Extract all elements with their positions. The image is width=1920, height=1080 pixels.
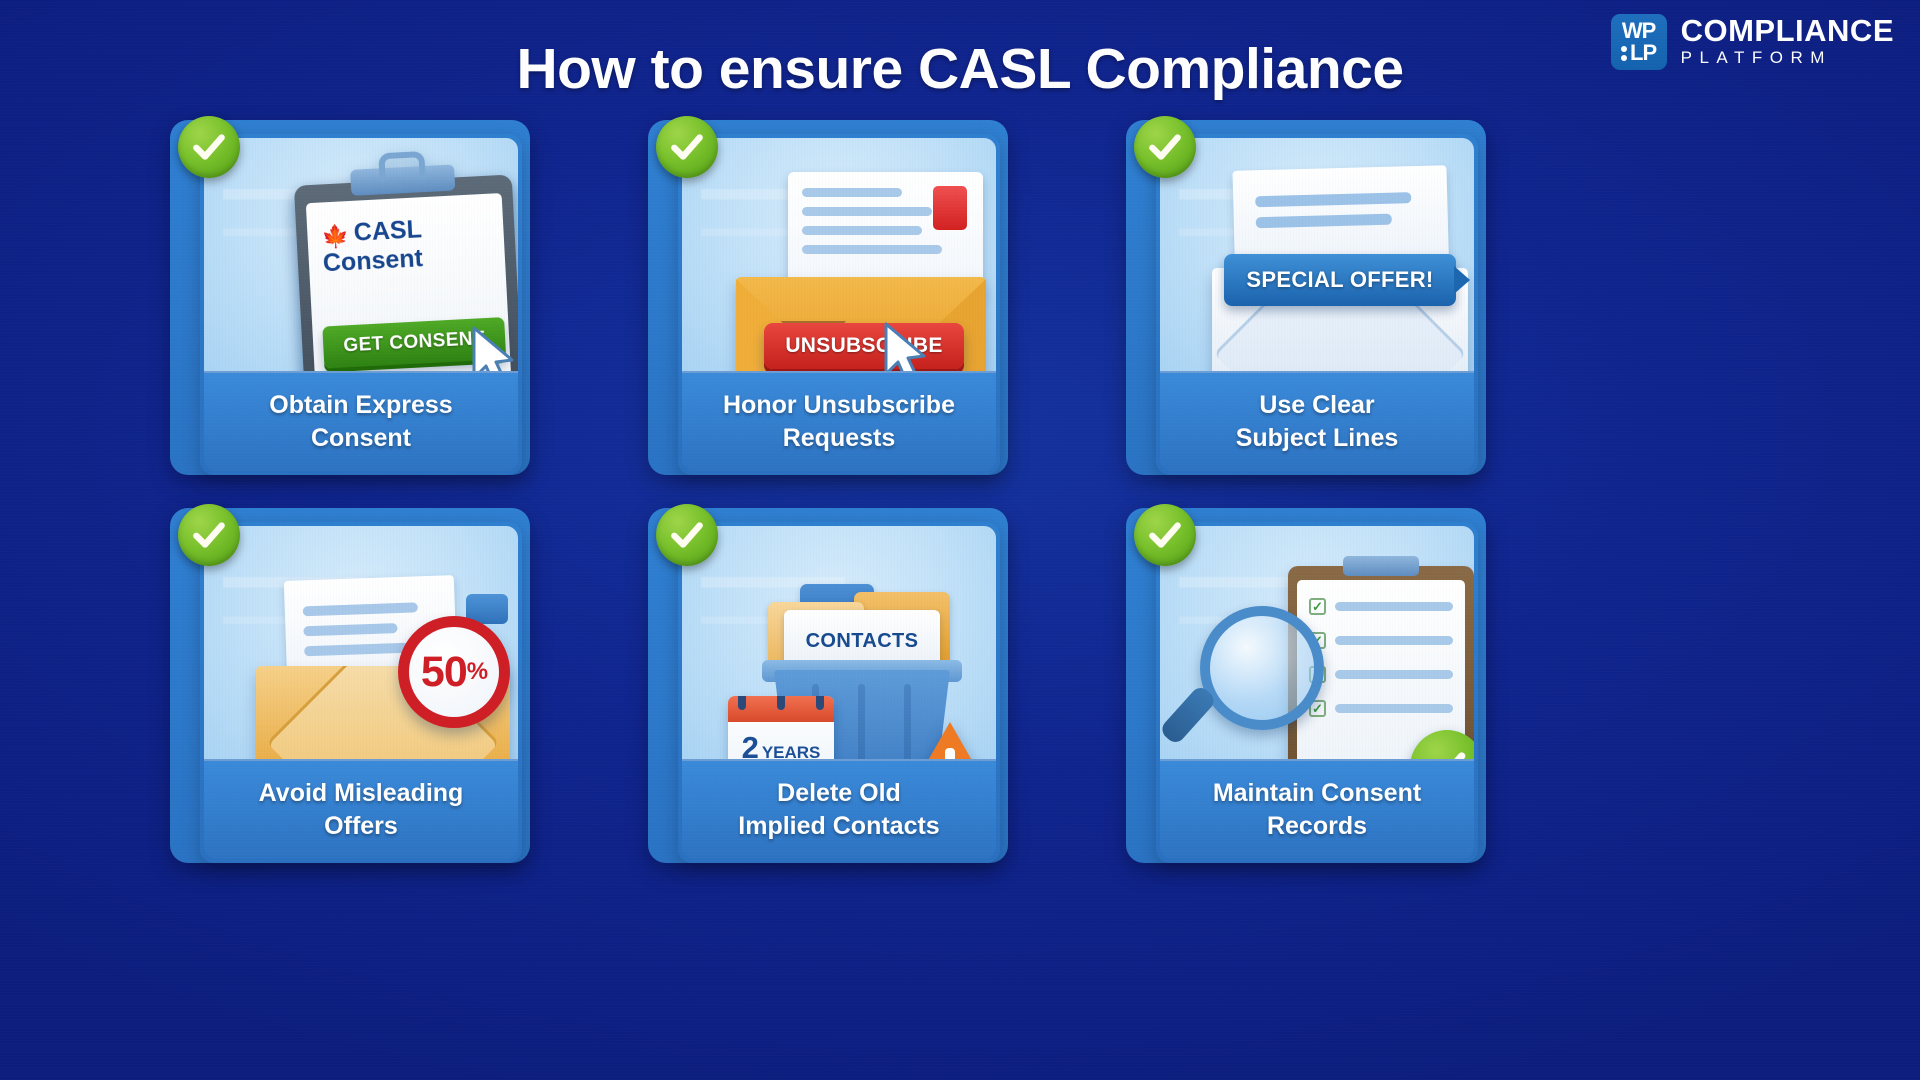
logo-wp-text: WP — [1622, 20, 1655, 42]
card-delete-old-implied-contacts[interactable]: CONTACTS 2 YEARS — [648, 508, 1008, 863]
card-inner-frame: 🍁CASL Consent GET CONSENT Obtain Express… — [200, 134, 522, 475]
envelope-discount-icon: 50% — [256, 578, 516, 759]
special-offer-banner: SPECIAL OFFER! — [1224, 254, 1456, 306]
card-label-3: Use Clear Subject Lines — [1160, 371, 1474, 471]
card-label-6: Maintain Consent Records — [1160, 759, 1474, 859]
card-label-3-line2: Subject Lines — [1236, 424, 1399, 452]
doc-title-line1: CASL — [353, 215, 422, 247]
mouse-cursor-icon — [878, 320, 934, 371]
check-badge-icon-6 — [1134, 504, 1196, 566]
discount-percent: % — [467, 658, 487, 686]
letter-accent-block — [933, 186, 967, 230]
card-label-6-line1: Maintain Consent — [1213, 779, 1421, 807]
card-label-3-line1: Use Clear — [1259, 391, 1374, 419]
calendar-icon: 2 YEARS — [728, 696, 834, 759]
card-label-4-line2: Offers — [324, 812, 398, 840]
card-artwork-consent: 🍁CASL Consent GET CONSENT — [204, 138, 518, 371]
card-maintain-consent-records[interactable]: ✓ ✓ ✓ ✓ Maintain Conse — [1126, 508, 1486, 863]
magnifying-glass-icon — [1200, 606, 1324, 730]
logo-lp-text: LP — [1630, 42, 1656, 64]
brand-logo: WP LP COMPLIANCE PLATFORM — [1611, 14, 1894, 70]
warning-triangle-icon — [910, 722, 990, 759]
unsubscribe-button[interactable]: UNSUBSCRIBE — [764, 323, 964, 369]
card-label-5-line1: Delete Old — [777, 779, 901, 807]
checkbox-icon: ✓ — [1309, 598, 1326, 615]
check-badge-icon-1 — [178, 116, 240, 178]
card-label-2: Honor Unsubscribe Requests — [682, 371, 996, 471]
check-badge-icon-4 — [178, 504, 240, 566]
card-artwork-subject-line: SPECIAL OFFER! — [1160, 138, 1474, 371]
card-use-clear-subject-lines[interactable]: SPECIAL OFFER! Use Clear Subject Lines — [1126, 120, 1486, 475]
check-badge-icon-3 — [1134, 116, 1196, 178]
card-avoid-misleading-offers[interactable]: 50% Avoid Misleading Offers — [170, 508, 530, 863]
card-label-6-line2: Records — [1267, 812, 1367, 840]
card-artwork-unsubscribe: UNSUBSCRIBE — [682, 138, 996, 371]
card-label-1-line1: Obtain Express — [269, 391, 452, 419]
card-obtain-express-consent[interactable]: 🍁CASL Consent GET CONSENT Obtain Express… — [170, 120, 530, 475]
maple-leaf-icon: 🍁 — [321, 223, 350, 250]
card-label-2-line2: Requests — [783, 424, 896, 452]
check-badge-icon-2 — [656, 116, 718, 178]
discount-number: 50 — [421, 648, 467, 697]
card-inner-frame: 50% Avoid Misleading Offers — [200, 522, 522, 863]
logo-dots-icon — [1621, 46, 1627, 61]
open-envelope-icon: UNSUBSCRIBE — [736, 172, 986, 371]
card-label-5: Delete Old Implied Contacts — [682, 759, 996, 859]
card-label-4: Avoid Misleading Offers — [204, 759, 518, 859]
card-label-2-line1: Honor Unsubscribe — [723, 391, 955, 419]
card-artwork-delete-contacts: CONTACTS 2 YEARS — [682, 526, 996, 759]
card-inner-frame: CONTACTS 2 YEARS — [678, 522, 1000, 863]
calendar-number: 2 — [742, 730, 759, 759]
card-label-4-line1: Avoid Misleading — [259, 779, 464, 807]
brand-name-line1: COMPLIANCE — [1681, 15, 1894, 47]
card-inner-frame: ✓ ✓ ✓ ✓ Maintain Conse — [1156, 522, 1478, 863]
records-audit-icon: ✓ ✓ ✓ ✓ — [1200, 558, 1474, 759]
brand-name-line2: PLATFORM — [1681, 47, 1894, 69]
card-label-1-line2: Consent — [311, 424, 411, 452]
card-artwork-consent-records: ✓ ✓ ✓ ✓ — [1160, 526, 1474, 759]
card-honor-unsubscribe-requests[interactable]: UNSUBSCRIBE Honor Unsubscribe Requests — [648, 120, 1008, 475]
calendar-unit: YEARS — [762, 743, 821, 759]
wplp-logo-mark: WP LP — [1611, 14, 1667, 70]
card-label-1: Obtain Express Consent — [204, 371, 518, 471]
check-badge-icon-5 — [656, 504, 718, 566]
envelope-with-banner-icon: SPECIAL OFFER! — [1206, 168, 1474, 371]
discount-badge: 50% — [398, 616, 510, 728]
card-inner-frame: UNSUBSCRIBE Honor Unsubscribe Requests — [678, 134, 1000, 475]
mouse-cursor-icon — [466, 324, 518, 371]
compliance-steps-grid: 🍁CASL Consent GET CONSENT Obtain Express… — [170, 120, 1750, 873]
card-label-5-line2: Implied Contacts — [738, 812, 939, 840]
card-artwork-misleading-offer: 50% — [204, 526, 518, 759]
trash-bin-icon: CONTACTS 2 YEARS — [752, 584, 972, 759]
card-inner-frame: SPECIAL OFFER! Use Clear Subject Lines — [1156, 134, 1478, 475]
